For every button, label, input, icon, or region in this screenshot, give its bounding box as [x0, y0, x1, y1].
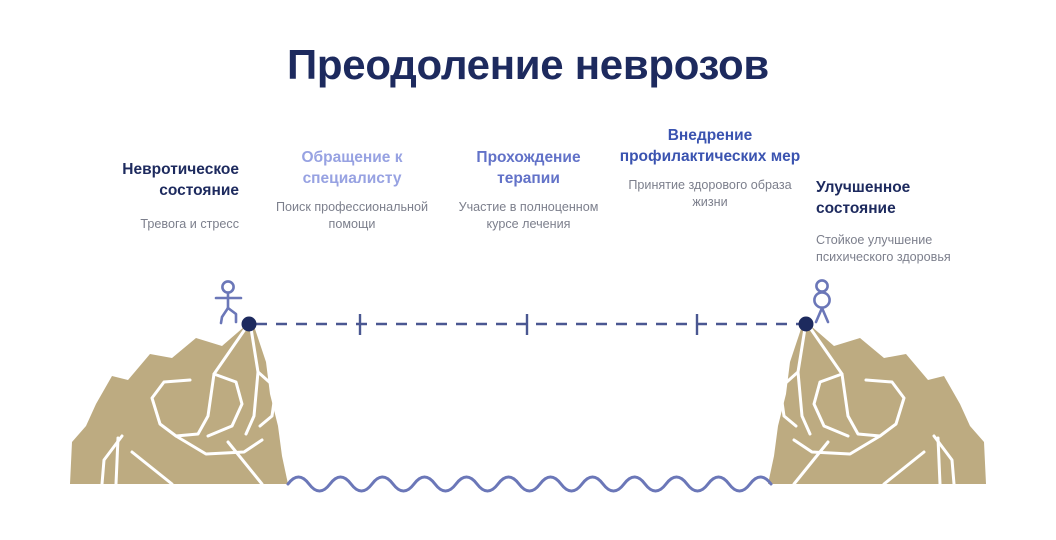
path-end-dot — [799, 317, 814, 332]
stage-subtitle-2: Поиск профессиональной помощи — [268, 190, 436, 235]
stage-column-4: Внедрение профилактических мер Принятие … — [614, 126, 806, 212]
illustration-scene — [0, 276, 1056, 540]
standing-person-icon — [814, 280, 829, 322]
stage-subtitle-5: Стойкое улучшение психического здоровья — [816, 220, 974, 268]
stage-heading-1: Невротическое состояние — [54, 160, 239, 202]
dashed-journey-path — [242, 314, 814, 335]
stage-column-5: Улучшенное состояние Стойкое улучшение п… — [816, 178, 974, 267]
infographic-canvas: Преодоление неврозов Невротическое состо… — [0, 0, 1056, 540]
right-cliff — [768, 320, 986, 484]
stage-subtitle-3: Участие в полноценном курсе лечения — [446, 190, 611, 235]
stage-heading-3: Прохождение терапии — [446, 148, 611, 190]
stage-column-1: Невротическое состояние Тревога и стресс — [54, 160, 239, 233]
stage-heading-5: Улучшенное состояние — [816, 178, 974, 220]
stage-subtitle-1: Тревога и стресс — [54, 202, 239, 234]
stage-subtitle-4: Принятие здорового образа жизни — [614, 168, 806, 213]
stage-heading-4: Внедрение профилактических мер — [614, 126, 806, 168]
stage-column-3: Прохождение терапии Участие в полноценно… — [446, 148, 611, 234]
water-wave — [288, 477, 771, 491]
walking-person-icon — [216, 281, 241, 323]
left-cliff — [70, 320, 288, 484]
page-title: Преодоление неврозов — [0, 42, 1056, 88]
stage-column-2: Обращение к специалисту Поиск профессион… — [268, 148, 436, 234]
path-start-dot — [242, 317, 257, 332]
stage-heading-2: Обращение к специалисту — [268, 148, 436, 190]
